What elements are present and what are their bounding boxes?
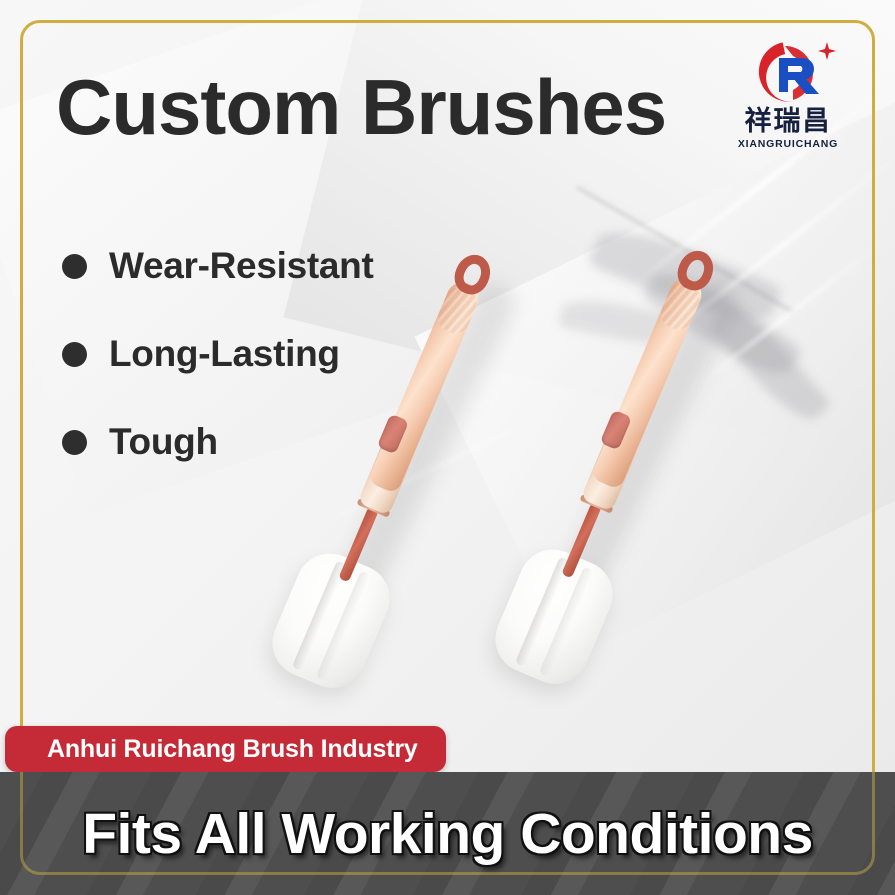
page-title: Custom Brushes xyxy=(56,68,666,146)
bullet-dot-icon xyxy=(62,254,87,279)
feature-list: Wear-Resistant Long-Lasting Tough xyxy=(62,222,373,486)
brand-banner: Anhui Ruichang Brush Industry xyxy=(5,726,446,772)
list-item: Wear-Resistant xyxy=(62,222,373,310)
bullet-dot-icon xyxy=(62,342,87,367)
bullet-dot-icon xyxy=(62,430,87,455)
logo-chinese-name: 祥瑞昌 xyxy=(723,108,853,135)
brand-banner-text: Anhui Ruichang Brush Industry xyxy=(47,735,418,764)
feature-label: Wear-Resistant xyxy=(109,245,373,287)
sponge-groove xyxy=(515,556,570,667)
feature-label: Long-Lasting xyxy=(109,333,340,375)
company-logo: 祥瑞昌 XIANGRUICHANG xyxy=(723,36,853,161)
footer-bar: Fits All Working Conditions xyxy=(0,772,895,895)
product-marketing-poster: Custom Brushes 祥瑞昌 XIANGRUICHANG Wear-Re… xyxy=(0,0,895,895)
sponge-groove xyxy=(316,570,371,681)
logo-pinyin: XIANGRUICHANG xyxy=(723,138,853,150)
logo-mark-icon xyxy=(723,36,853,110)
feature-label: Tough xyxy=(109,421,218,463)
list-item: Long-Lasting xyxy=(62,310,373,398)
sponge-groove xyxy=(292,560,347,671)
list-item: Tough xyxy=(62,398,373,486)
footer-tagline: Fits All Working Conditions xyxy=(0,801,895,867)
sponge-groove xyxy=(539,566,594,677)
